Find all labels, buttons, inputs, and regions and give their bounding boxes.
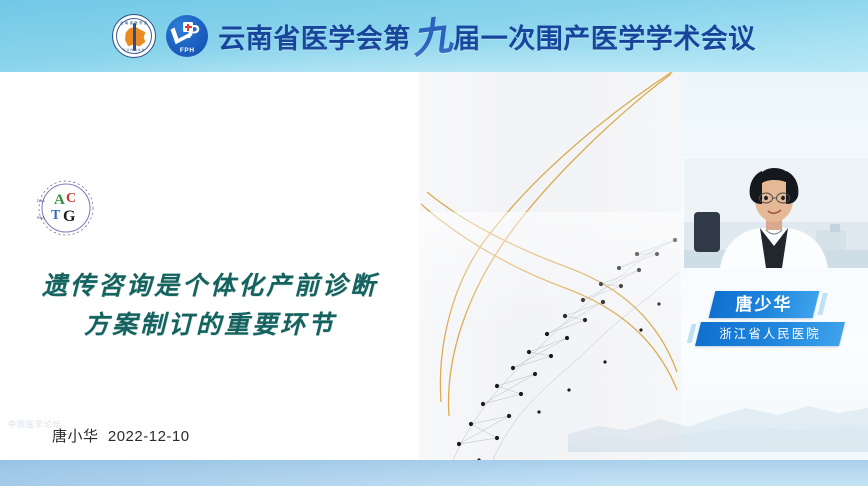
svg-text:DNA: DNA — [37, 199, 45, 203]
fph-logo-label: FPH — [166, 47, 208, 54]
atcg-logo-svg: A C T G DNA RNA — [33, 177, 95, 239]
byline-author: 唐小华 — [52, 428, 99, 445]
seal-staff-shape — [133, 23, 136, 51]
footer-bar — [0, 460, 868, 486]
conference-header-banner: 云南省医学会 YUNNAN P FPH 云南省医学会第 九 届一次围产医学学术会… — [0, 0, 868, 72]
fph-hospital-logo-icon: P FPH — [166, 15, 208, 57]
speaker-name-banner: 唐少华 — [709, 291, 820, 318]
slide-byline: 唐小华 2022-12-10 — [52, 425, 190, 446]
speaker-video-feed[interactable] — [684, 158, 868, 268]
byline-date: 2022-12-10 — [108, 428, 190, 445]
presentation-slide: A C T G DNA RNA 遗传咨询是个体化产前诊断 方案制订的重要环节 唐… — [0, 72, 868, 460]
svg-text:A: A — [54, 192, 65, 208]
conference-title-ordinal: 九 — [409, 21, 455, 54]
svg-text:RNA: RNA — [37, 216, 45, 220]
slide-title: 遗传咨询是个体化产前诊断 方案制订的重要环节 — [0, 268, 420, 346]
speaker-name-label: 唐少华 — [712, 291, 816, 318]
speaker-organization-label: 浙江省人民医院 — [698, 322, 842, 346]
header-content-row: 云南省医学会 YUNNAN P FPH 云南省医学会第 九 届一次围产医学学术会… — [0, 0, 868, 72]
speaker-name-banner-group: 唐少华 浙江省人民医院 — [690, 291, 868, 346]
conference-title: 云南省医学会第 九 届一次围产医学学术会议 — [218, 17, 756, 56]
slide-viewer: 云南省医学会 YUNNAN P FPH 云南省医学会第 九 届一次围产医学学术会… — [0, 0, 868, 486]
conference-title-prefix: 云南省医学会第 — [218, 17, 411, 56]
banner-slash-decoration — [817, 293, 827, 315]
speaker-video-frame — [684, 158, 868, 268]
svg-text:C: C — [66, 191, 76, 206]
atcg-genetics-logo-icon: A C T G DNA RNA — [33, 177, 95, 239]
seal-arc-text-bottom: YUNNAN — [113, 48, 155, 52]
slide-title-line-1: 遗传咨询是个体化产前诊断 — [42, 273, 378, 300]
conference-title-suffix: 届一次围产医学学术会议 — [453, 17, 756, 56]
medical-cross-icon — [183, 22, 193, 32]
svg-text:T: T — [51, 208, 61, 223]
svg-text:G: G — [63, 208, 76, 225]
slide-title-line-2: 方案制订的重要环节 — [0, 307, 420, 346]
yunnan-medical-association-seal-icon: 云南省医学会 YUNNAN — [112, 14, 156, 58]
speaker-organization-banner: 浙江省人民医院 — [695, 322, 845, 346]
dna-double-helix-network-icon — [419, 72, 681, 460]
watermark-text: 中国医学论坛 — [8, 419, 62, 430]
